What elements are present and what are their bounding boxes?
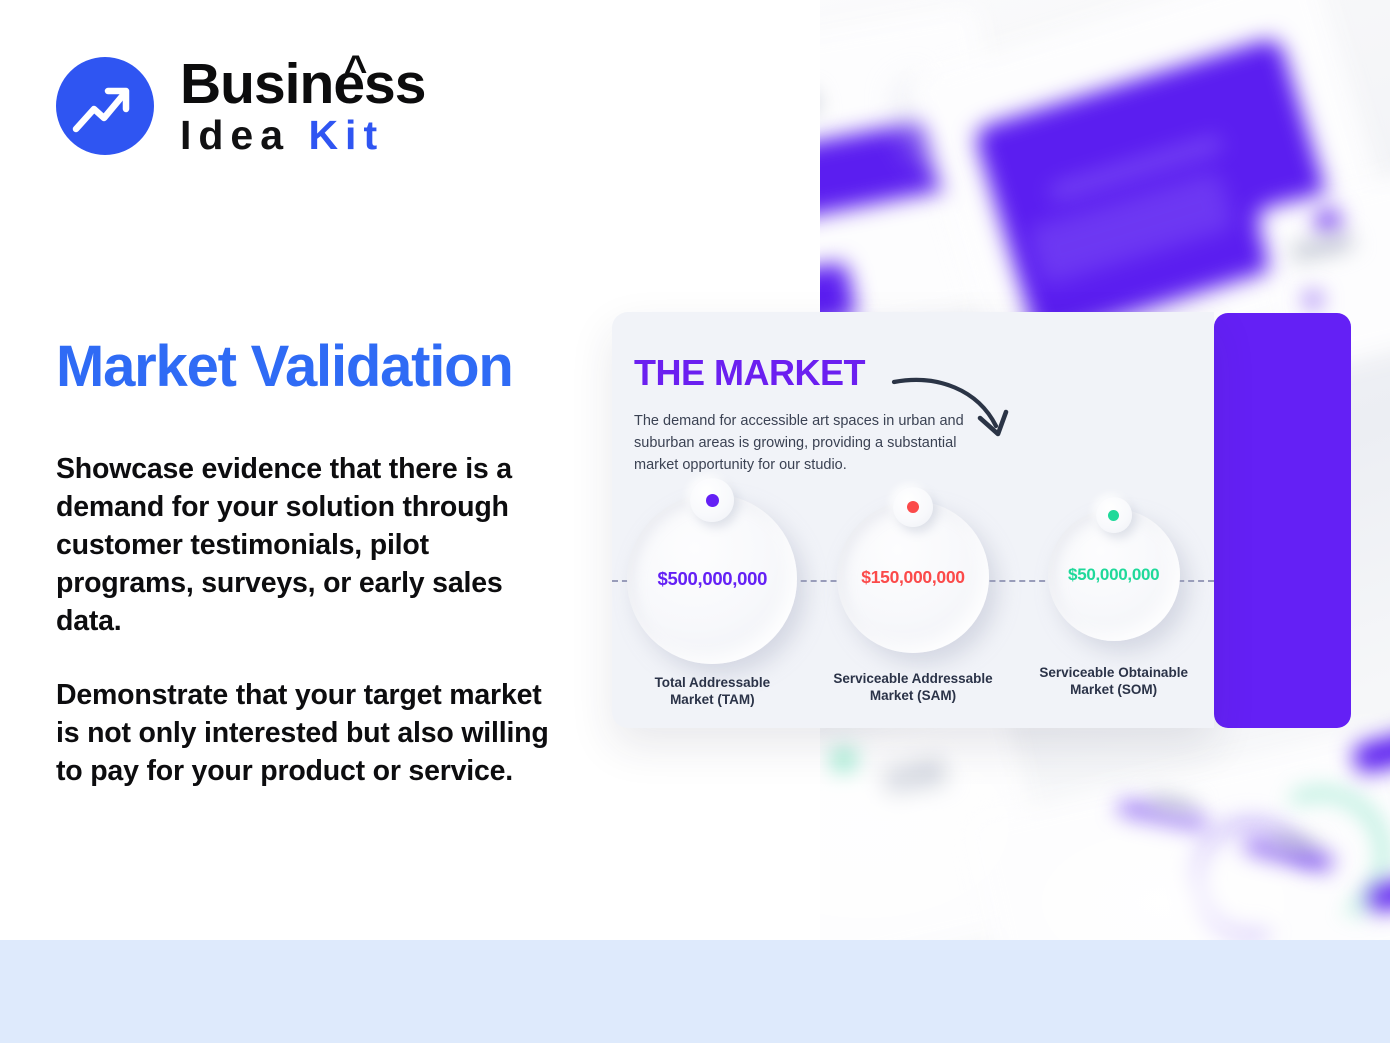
- sam-circle: $150,000,000 Serviceable Addressable Mar…: [837, 501, 989, 653]
- brand-name-line2-dark: Idea: [180, 112, 308, 158]
- market-metrics-row: $500,000,000 Total Addressable Market (T…: [612, 494, 1214, 714]
- som-label: Serviceable Obtainable Market (SOM): [1039, 664, 1188, 698]
- tam-label: Total Addressable Market (TAM): [655, 674, 771, 708]
- brand-name-line2-accent: Kit: [308, 112, 384, 158]
- bg-dot-purple-1: [1315, 208, 1341, 234]
- tam-label-line2: Market (TAM): [670, 692, 755, 707]
- sam-label: Serviceable Addressable Market (SAM): [833, 670, 992, 704]
- market-card-description: The demand for accessible art spaces in …: [634, 410, 986, 476]
- body-paragraph-1: Showcase evidence that there is a demand…: [56, 450, 566, 640]
- market-card: THE MARKET The demand for accessible art…: [612, 312, 1214, 728]
- sam-label-line1: Serviceable Addressable: [833, 671, 992, 686]
- som-label-line2: Market (SOM): [1070, 682, 1157, 697]
- slide-canvas: Business ^ Idea Kit Market Validation Sh…: [0, 0, 1390, 1043]
- market-metric-som[interactable]: $50,000,000 Serviceable Obtainable Marke…: [1013, 494, 1214, 714]
- som-amount: $50,000,000: [1068, 565, 1159, 585]
- market-metric-sam[interactable]: $150,000,000 Serviceable Addressable Mar…: [813, 494, 1014, 714]
- growth-chart-arrow-icon: [56, 57, 154, 155]
- som-label-line1: Serviceable Obtainable: [1039, 665, 1188, 680]
- som-circle: $50,000,000 Serviceable Obtainable Marke…: [1048, 509, 1180, 641]
- market-card-title: THE MARKET: [634, 352, 865, 394]
- brand-name-line2: Idea Kit: [180, 115, 425, 156]
- bg-dot-green-1: [833, 750, 855, 772]
- market-metric-tam[interactable]: $500,000,000 Total Addressable Market (T…: [612, 494, 813, 714]
- bg-dot-purple-2: [1305, 292, 1321, 308]
- page-title: Market Validation: [56, 333, 513, 400]
- brand-name-line1-text: Business: [180, 52, 425, 116]
- market-card-side-panel: [1214, 313, 1351, 728]
- brand-logo[interactable]: Business ^ Idea Kit: [56, 56, 425, 156]
- tam-circle: $500,000,000 Total Addressable Market (T…: [627, 494, 797, 664]
- sam-amount: $150,000,000: [861, 567, 964, 588]
- brand-wordmark: Business ^ Idea Kit: [180, 56, 425, 156]
- tam-indicator-dot: [706, 494, 719, 507]
- sam-label-line2: Market (SAM): [870, 688, 956, 703]
- bottom-accent-band: [0, 940, 1390, 1043]
- som-indicator-nub: [1096, 497, 1132, 533]
- body-paragraph-2: Demonstrate that your target market is n…: [56, 676, 566, 790]
- sam-indicator-dot: [907, 501, 919, 513]
- brand-circumflex-accent: ^: [344, 50, 366, 90]
- sam-indicator-nub: [893, 487, 933, 527]
- tam-label-line1: Total Addressable: [655, 675, 771, 690]
- tam-indicator-nub: [690, 478, 734, 522]
- brand-name-line1: Business ^: [180, 56, 425, 113]
- som-indicator-dot: [1108, 510, 1119, 521]
- tam-amount: $500,000,000: [658, 568, 768, 590]
